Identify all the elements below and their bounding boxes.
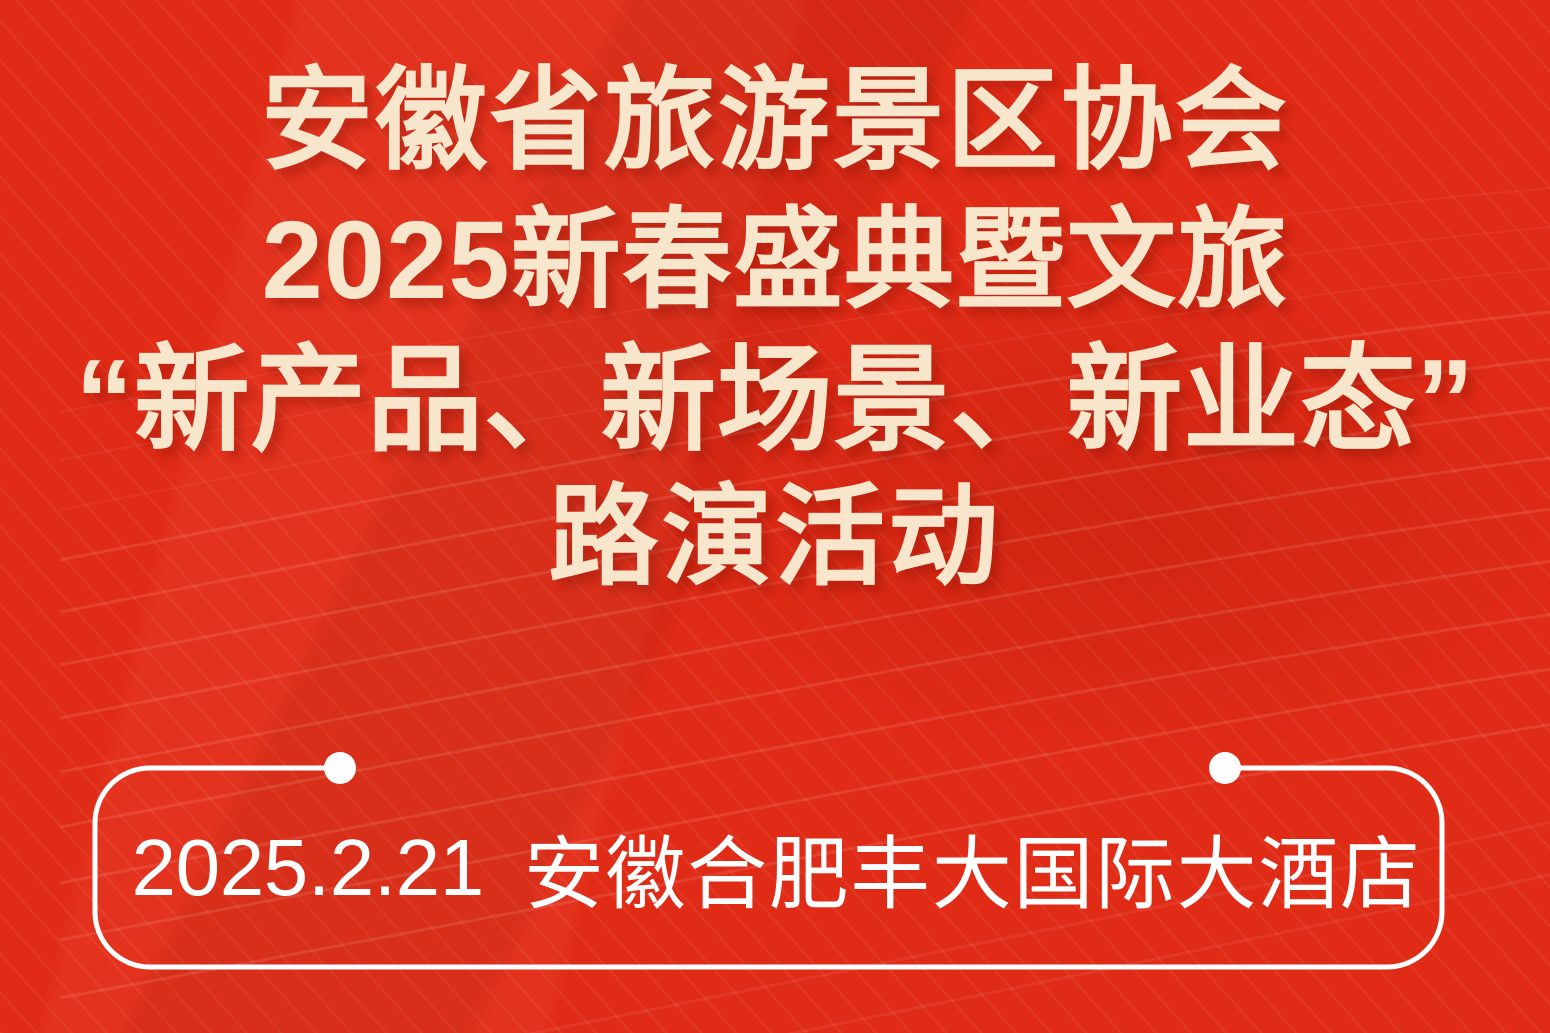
event-date: 2025.2.21	[132, 822, 484, 914]
title-line-theme: “新产品、新场景、新业态”	[0, 339, 1550, 462]
title-line-activity: 路演活动	[0, 480, 1550, 597]
info-bar-text: 2025.2.21 安徽合肥丰大国际大酒店	[95, 768, 1458, 967]
event-info-bar: 2025.2.21 安徽合肥丰大国际大酒店	[95, 768, 1458, 967]
poster-title-block: 安徽省旅游景区协会 2025新春盛典暨文旅 “新产品、新场景、新业态” 路演活动	[0, 62, 1550, 597]
event-poster: 安徽省旅游景区协会 2025新春盛典暨文旅 “新产品、新场景、新业态” 路演活动…	[0, 0, 1550, 1033]
title-line-event: 2025新春盛典暨文旅	[0, 203, 1550, 320]
title-line-organization: 安徽省旅游景区协会	[0, 62, 1550, 181]
event-venue: 安徽合肥丰大国际大酒店	[524, 810, 1422, 926]
